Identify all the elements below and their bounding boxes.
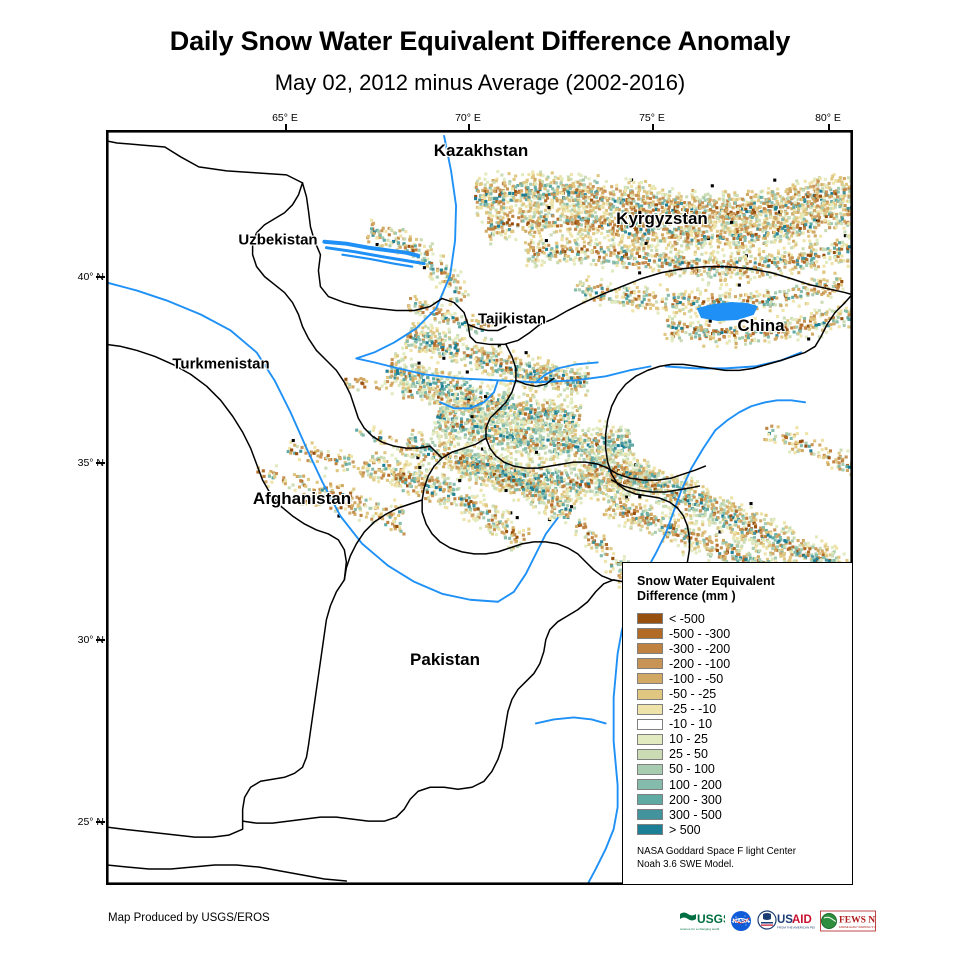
legend-swatch-5 xyxy=(637,689,663,700)
legend-row: 10 - 25 xyxy=(637,732,852,747)
usaid-logo-icon: US AID FROM THE AMERICAN PEOPLE xyxy=(757,910,815,932)
legend-row: > 500 xyxy=(637,822,852,837)
legend-swatch-14 xyxy=(637,824,663,835)
legend-label-9: 25 - 50 xyxy=(669,748,708,760)
legend-swatch-10 xyxy=(637,764,663,775)
legend-row: 100 - 200 xyxy=(637,777,852,792)
usgs-logo[interactable]: USGS science for a changing world xyxy=(679,910,725,932)
legend-title: Snow Water Equivalent Difference (mm ) xyxy=(637,574,852,604)
page-title: Daily Snow Water Equivalent Difference A… xyxy=(0,26,960,57)
legend-row: -10 - 10 xyxy=(637,717,852,732)
legend-row: -50 - -25 xyxy=(637,686,852,701)
nasa-logo[interactable]: NASA xyxy=(730,910,752,932)
legend-row: -300 - -200 xyxy=(637,641,852,656)
usgs-logo-icon: USGS science for a changing world xyxy=(679,910,725,932)
legend-swatch-8 xyxy=(637,734,663,745)
legend-row: -200 - -100 xyxy=(637,656,852,671)
lat-tick-mark-1 xyxy=(96,462,105,464)
legend-title-line2: Difference (mm ) xyxy=(637,589,852,604)
lon-tick-label-2: 75° E xyxy=(639,112,665,124)
fews-net-logo-icon: FEWS NET FAMINE EARLY WARNING SYSTEMS NE… xyxy=(820,910,876,932)
legend-swatch-13 xyxy=(637,809,663,820)
partner-logos: USGS science for a changing world NASA U… xyxy=(679,906,859,936)
legend-label-12: 200 - 300 xyxy=(669,794,722,806)
legend-label-13: 300 - 500 xyxy=(669,809,722,821)
legend-title-line1: Snow Water Equivalent xyxy=(637,574,852,589)
legend-label-1: -500 - -300 xyxy=(669,628,730,640)
lat-tick-mark-0 xyxy=(96,276,105,278)
legend-row: < -500 xyxy=(637,611,852,626)
legend-swatch-4 xyxy=(637,673,663,684)
legend-label-3: -200 - -100 xyxy=(669,658,730,670)
lon-tick-label-3: 80° E xyxy=(815,112,841,124)
legend-swatch-6 xyxy=(637,704,663,715)
fews-net-logo[interactable]: FEWS NET FAMINE EARLY WARNING SYSTEMS NE… xyxy=(820,910,876,932)
legend-swatch-11 xyxy=(637,779,663,790)
legend-source: NASA Goddard Space F light Center Noah 3… xyxy=(637,846,852,871)
legend-row: 25 - 50 xyxy=(637,747,852,762)
legend-row: -25 - -10 xyxy=(637,702,852,717)
lat-tick-mark-2 xyxy=(96,639,105,641)
legend-source-line2: Noah 3.6 SWE Model. xyxy=(637,859,852,872)
legend-swatch-2 xyxy=(637,643,663,654)
legend-label-0: < -500 xyxy=(669,613,705,625)
legend-label-10: 50 - 100 xyxy=(669,763,715,775)
legend-panel[interactable]: Snow Water Equivalent Difference (mm ) <… xyxy=(622,562,853,885)
legend-swatch-9 xyxy=(637,749,663,760)
legend-row: -100 - -50 xyxy=(637,671,852,686)
legend-label-4: -100 - -50 xyxy=(669,673,723,685)
page-subtitle: May 02, 2012 minus Average (2002-2016) xyxy=(0,70,960,96)
lon-tick-label-0: 65° E xyxy=(272,112,298,124)
lat-tick-mark-3 xyxy=(96,821,105,823)
legend-swatch-1 xyxy=(637,628,663,639)
legend-row: -500 - -300 xyxy=(637,626,852,641)
legend-source-line1: NASA Goddard Space F light Center xyxy=(637,846,852,859)
legend-label-14: > 500 xyxy=(669,824,701,836)
legend-label-8: 10 - 25 xyxy=(669,733,708,745)
legend-row: 300 - 500 xyxy=(637,807,852,822)
legend-swatch-7 xyxy=(637,719,663,730)
legend-label-11: 100 - 200 xyxy=(669,779,722,791)
legend-label-5: -50 - -25 xyxy=(669,688,716,700)
legend-label-7: -10 - 10 xyxy=(669,718,712,730)
legend-label-2: -300 - -200 xyxy=(669,643,730,655)
legend-label-6: -25 - -10 xyxy=(669,703,716,715)
legend-row: 50 - 100 xyxy=(637,762,852,777)
legend-entries: < -500-500 - -300-300 - -200-200 - -100-… xyxy=(637,611,852,837)
map-page: Daily Snow Water Equivalent Difference A… xyxy=(0,0,960,960)
legend-swatch-3 xyxy=(637,658,663,669)
footer-credit: Map Produced by USGS/EROS xyxy=(108,912,270,924)
legend-swatch-12 xyxy=(637,794,663,805)
lon-tick-label-1: 70° E xyxy=(455,112,481,124)
legend-row: 200 - 300 xyxy=(637,792,852,807)
usaid-logo[interactable]: US AID FROM THE AMERICAN PEOPLE xyxy=(757,910,815,932)
nasa-logo-icon: NASA xyxy=(730,910,752,932)
legend-swatch-0 xyxy=(637,613,663,624)
